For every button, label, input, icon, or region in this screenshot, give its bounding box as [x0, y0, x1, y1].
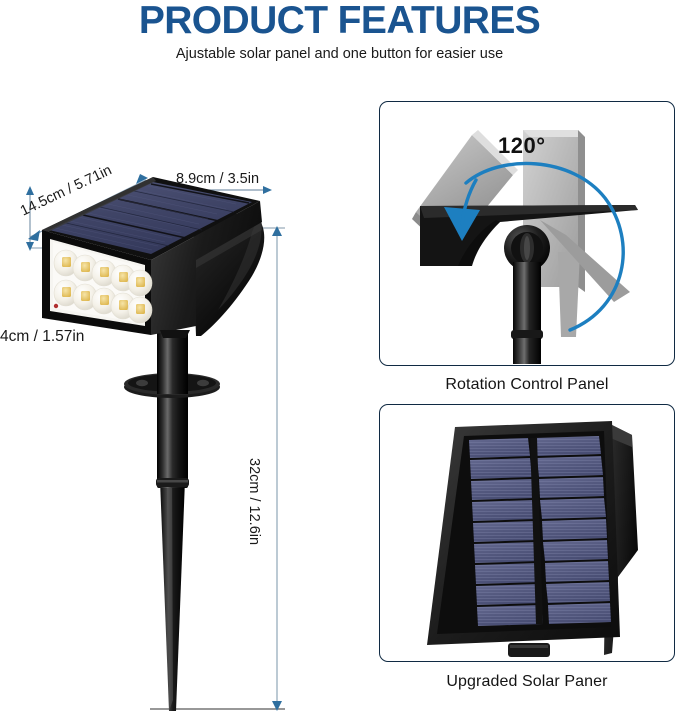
- product-features-infographic: PRODUCT FEATURES Ajustable solar panel a…: [0, 0, 679, 722]
- feature-card-rotation-control-panel: 120°: [379, 101, 675, 366]
- dimension-label-total-height: 32cm / 12.6in: [245, 458, 262, 545]
- product-illustration-panel: 14.5cm / 5.71in 8.9cm / 3.5in 4cm / 1.57…: [0, 80, 370, 722]
- page-title: PRODUCT FEATURES: [0, 0, 679, 42]
- dimension-label-panel-width: 8.9cm / 3.5in: [176, 171, 259, 188]
- dimension-label-head-height: 4cm / 1.57in: [0, 328, 84, 345]
- page-subtitle: Ajustable solar panel and one button for…: [0, 45, 679, 63]
- sensor-indicator-icon: [54, 304, 58, 308]
- rotation-angle-label: 120°: [498, 133, 546, 159]
- caption-upgraded-solar-panel: Upgraded Solar Paner: [379, 673, 675, 691]
- spotlight-head: [42, 177, 264, 338]
- ground-stake: [124, 330, 220, 711]
- solar-panel-closeup-diagram: [380, 405, 673, 660]
- caption-rotation-control-panel: Rotation Control Panel: [379, 376, 675, 394]
- support-pole: [511, 262, 543, 364]
- feature-card-upgraded-solar-panel: [379, 404, 675, 662]
